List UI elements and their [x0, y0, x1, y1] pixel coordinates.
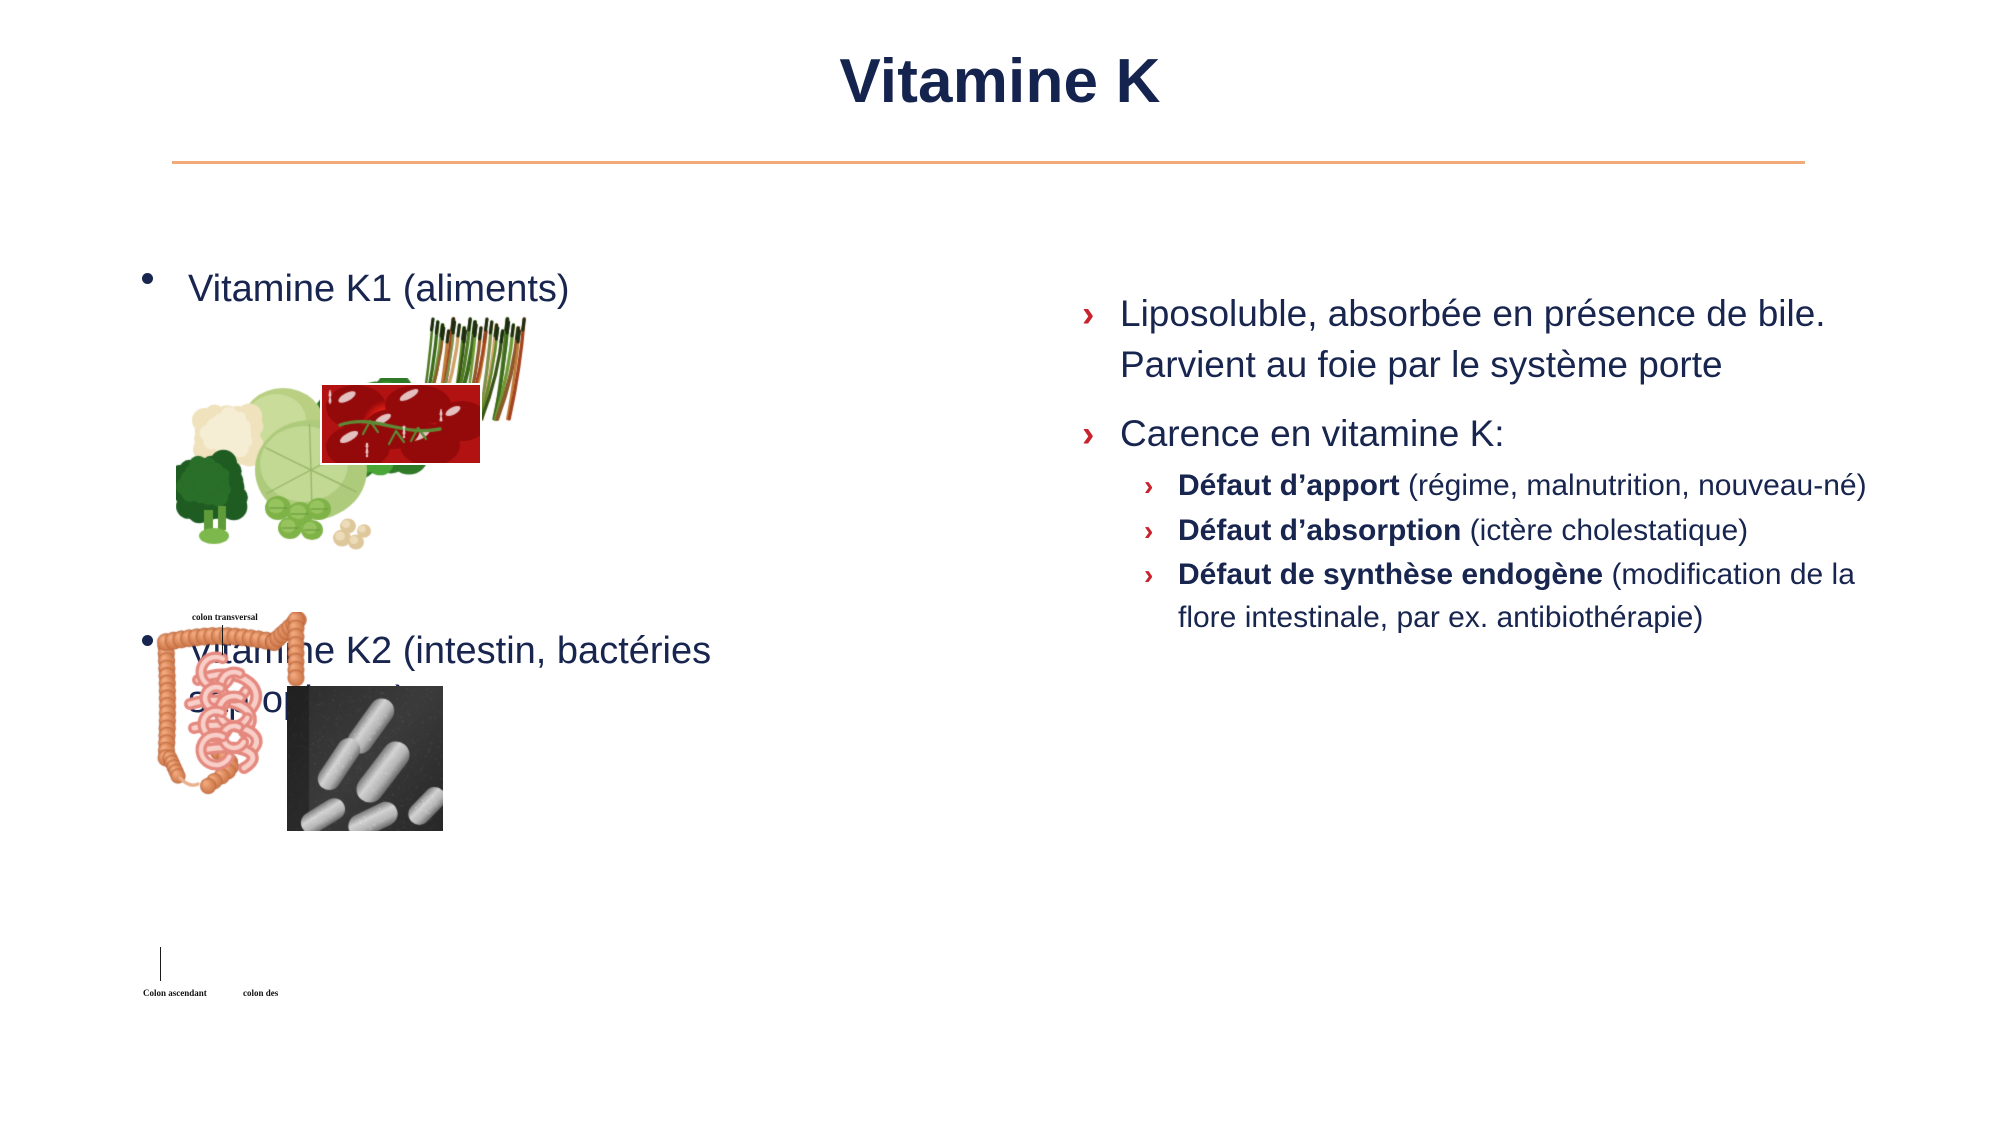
- chevron-right-icon: ›: [1082, 408, 1094, 459]
- sub-list-item: › Défaut d’absorption (ictère cholestati…: [1140, 510, 1910, 553]
- bacteria-micrograph: [287, 686, 443, 831]
- leader-line-ascendant: [160, 947, 161, 981]
- leader-line-transversal: [222, 625, 223, 655]
- sub-list-item-rest: (régime, malnutrition, nouveau-né): [1400, 469, 1867, 502]
- bacteria-canvas: [287, 686, 443, 831]
- intestine-label-descendant: colon des: [243, 988, 278, 998]
- chevron-right-icon: ›: [1144, 511, 1153, 551]
- list-item: › Carence en vitamine K:: [1080, 408, 1910, 459]
- tomatoes-canvas: [322, 385, 480, 463]
- sub-list-item-strong: Défaut d’absorption: [1178, 514, 1461, 547]
- sub-list-item: › Défaut de synthèse endogène (modificat…: [1140, 554, 1910, 639]
- slide-canvas: Vitamine K Vitamine K1 (aliments) Vitami…: [0, 0, 2000, 1125]
- page-title: Vitamine K: [0, 48, 2000, 116]
- sub-list-item: › Défaut d’apport (régime, malnutrition,…: [1140, 465, 1910, 508]
- intestine-label-ascendant: Colon ascendant: [143, 988, 207, 998]
- chevron-right-icon: ›: [1082, 288, 1094, 339]
- sub-list-item-rest: (ictère cholestatique): [1461, 514, 1748, 547]
- right-content-column: › Liposoluble, absorbée en présence de b…: [1080, 288, 1910, 642]
- sub-list-item-strong: Défaut d’apport: [1178, 469, 1400, 502]
- bullet-dot-icon: [142, 273, 153, 284]
- chevron-right-icon: ›: [1144, 466, 1153, 506]
- list-item: › Liposoluble, absorbée en présence de b…: [1080, 288, 1910, 390]
- list-item-label: Liposoluble, absorbée en présence de bil…: [1120, 293, 1826, 385]
- tomatoes-photo: [320, 383, 482, 465]
- list-item: Vitamine K1 (aliments): [130, 265, 920, 314]
- left-content-column: Vitamine K1 (aliments): [130, 265, 920, 314]
- sub-list-item-strong: Défaut de synthèse endogène: [1178, 558, 1603, 591]
- intestine-label-transversal: colon transversal: [192, 612, 258, 622]
- sub-list: › Défaut d’apport (régime, malnutrition,…: [1080, 465, 1910, 639]
- list-item-label: Carence en vitamine K:: [1120, 413, 1505, 454]
- list-item-label: Vitamine K1 (aliments): [188, 268, 570, 310]
- title-divider: [172, 161, 1805, 164]
- chevron-right-icon: ›: [1144, 555, 1153, 595]
